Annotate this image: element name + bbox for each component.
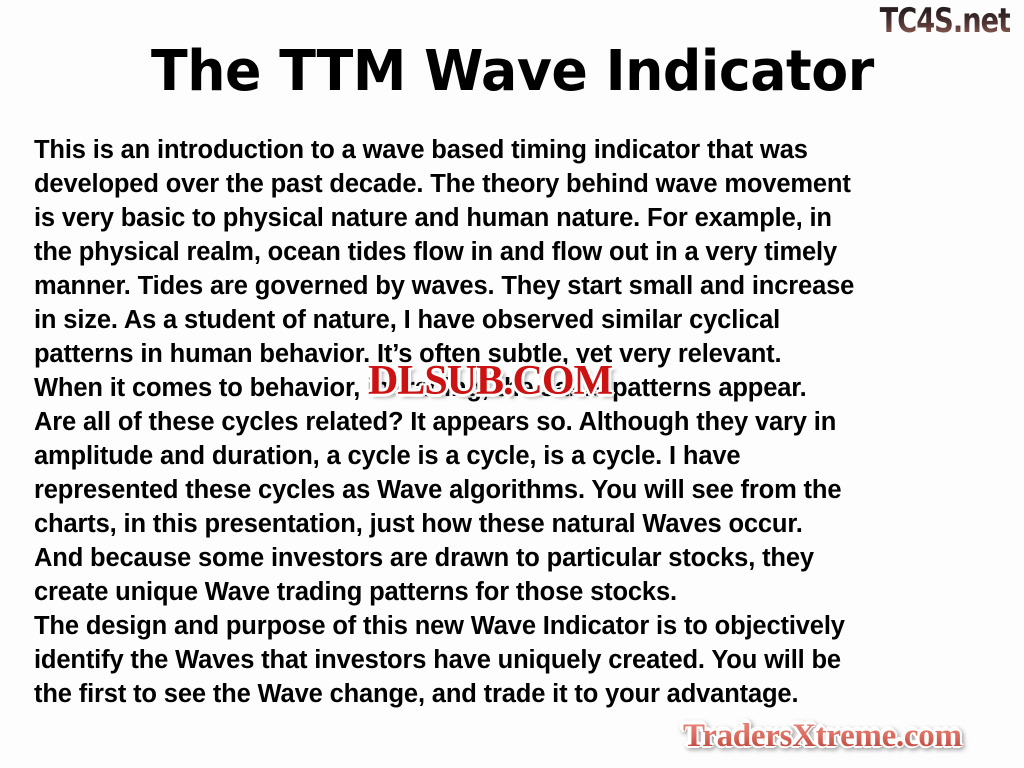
body-line: developed over the past decade. The theo… [34,167,1002,201]
purpose-paragraph: The design and purpose of this new Wave … [34,609,1002,711]
body-line: the first to see the Wave change, and tr… [34,677,1002,711]
body-line: patterns in human behavior. It’s often s… [34,337,1002,371]
body-line: charts, in this presentation, just how t… [34,507,1002,541]
brand-logo-tc4s: TC4S.net [880,2,1011,40]
intro-paragraph: This is an introduction to a wave based … [34,133,1002,609]
body-line: identify the Waves that investors have u… [34,643,1002,677]
body-line: amplitude and duration, a cycle is a cyc… [34,439,1002,473]
body-line: create unique Wave trading patterns for … [34,575,1002,609]
body-line: And because some investors are drawn to … [34,541,1002,575]
body-line: The design and purpose of this new Wave … [34,609,1002,643]
body-line: Are all of these cycles related? It appe… [34,405,1002,439]
body-text-block: This is an introduction to a wave based … [34,133,1002,711]
body-line: is very basic to physical nature and hum… [34,201,1002,235]
body-line: the physical realm, ocean tides flow in … [34,235,1002,269]
body-line: When it comes to behavior, in trading, t… [34,371,1002,405]
page-title: The TTM Wave Indicator [0,40,1024,104]
brand-logo-tradersxtreme: TradersXtreme.com [683,717,962,755]
body-line: represented these cycles as Wave algorit… [34,473,1002,507]
page-title-text: The TTM Wave Indicator [151,40,874,104]
body-line: in size. As a student of nature, I have … [34,303,1002,337]
slide-canvas: TC4S.net The TTM Wave Indicator This is … [0,0,1024,768]
body-line: This is an introduction to a wave based … [34,133,1002,167]
body-line: manner. Tides are governed by waves. The… [34,269,1002,303]
